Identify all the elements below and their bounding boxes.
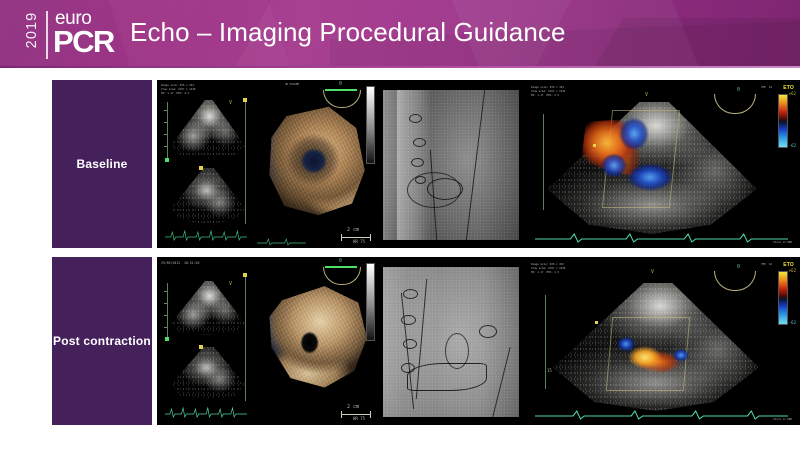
logo-year: 2019 bbox=[24, 8, 40, 52]
view-marker-label: V bbox=[229, 283, 232, 286]
fluoroscopy-image bbox=[383, 90, 519, 240]
page-title: Echo – Imaging Procedural Guidance bbox=[130, 17, 566, 48]
scale-bar-cap bbox=[370, 411, 371, 418]
orientation-marker bbox=[595, 321, 598, 324]
ecg-trace bbox=[535, 230, 788, 244]
echo-speckle bbox=[171, 347, 245, 399]
heart-rate-label: HR 75 bbox=[353, 240, 365, 243]
view-marker-label: V bbox=[645, 94, 648, 97]
orientation-marker bbox=[243, 98, 247, 102]
doppler-jet-blue bbox=[627, 164, 673, 194]
axis-tick bbox=[164, 327, 167, 328]
panel-3d-volume-render[interactable]: 3D VOLUME 0 2 cm HR 75 bbox=[255, 80, 377, 248]
slide-header: 2019 euro PCR Echo – Imaging Procedural … bbox=[0, 0, 800, 68]
fluoroscopy-image bbox=[383, 267, 519, 417]
depth-label: 15 bbox=[547, 369, 552, 372]
volume-render-image bbox=[263, 102, 369, 220]
echo-speckle bbox=[171, 281, 245, 335]
depth-axis bbox=[545, 295, 546, 389]
orientation-marker bbox=[199, 345, 203, 349]
axis-tick bbox=[164, 122, 167, 123]
panel-color-doppler-echo[interactable]: Image size: 636 x 434 View area: 2197 x … bbox=[525, 80, 800, 248]
europcr-logo: 2019 euro PCR bbox=[14, 6, 122, 62]
axis-tick bbox=[164, 110, 167, 111]
logo-divider bbox=[46, 11, 48, 59]
panel-fluoroscopy[interactable] bbox=[377, 257, 525, 425]
orientation-marker bbox=[593, 144, 596, 147]
axis-tick bbox=[164, 146, 167, 147]
slide: 2019 euro PCR Echo – Imaging Procedural … bbox=[0, 0, 800, 450]
echo-speckle bbox=[171, 100, 245, 158]
volume-texture bbox=[263, 102, 369, 220]
view-marker-label: V bbox=[651, 271, 654, 274]
row-label-baseline: Baseline bbox=[52, 80, 152, 248]
panel-biplane-2d-echo[interactable]: Image size: 636 x 434 View area: 2197 x … bbox=[157, 80, 255, 248]
axis-tick bbox=[164, 291, 167, 292]
scale-bar-cap bbox=[341, 411, 342, 418]
scale-bar-label: 2 cm bbox=[347, 229, 359, 232]
orientation-angle-label: 0 bbox=[339, 83, 342, 86]
echo-overlay-text: Image size: 636 x 434 bbox=[161, 84, 194, 87]
echo-sector-lower bbox=[171, 168, 245, 224]
scale-bar-label: 2 cm bbox=[347, 406, 359, 409]
axis-tick bbox=[164, 303, 167, 304]
header-underline bbox=[0, 66, 800, 68]
axis-tick bbox=[164, 134, 167, 135]
depth-axis bbox=[543, 114, 544, 210]
scale-bar-cap bbox=[341, 234, 342, 241]
doppler-canvas: V bbox=[535, 88, 790, 240]
doppler-jet-blue bbox=[673, 349, 689, 363]
orientation-marker bbox=[165, 337, 169, 341]
doppler-jet-blue bbox=[601, 154, 627, 180]
doppler-canvas: V 15 bbox=[535, 265, 790, 417]
ecg-trace bbox=[165, 403, 247, 419]
side-axis bbox=[245, 100, 246, 224]
scale-bar-line bbox=[341, 414, 371, 415]
panel-group-baseline: Image size: 636 x 434 View area: 2197 x … bbox=[157, 80, 800, 248]
fluoroscopy-noise bbox=[383, 267, 519, 417]
echo-overlay-text: MI: 1.17 MHz: 2.5 bbox=[161, 92, 189, 95]
side-axis bbox=[245, 275, 246, 401]
doppler-jet-blue bbox=[617, 337, 635, 353]
heart-rate-label: HR 75 bbox=[353, 417, 365, 420]
ecg-trace bbox=[535, 407, 788, 421]
logo-pcr-text: PCR bbox=[53, 26, 114, 57]
orientation-marker bbox=[165, 158, 169, 162]
panel-group-post-contraction: 29/05/2012 16:51:56 V bbox=[157, 257, 800, 425]
echo-overlay-text: Store in HDD bbox=[773, 241, 792, 244]
fluoroscopy-noise bbox=[383, 90, 519, 240]
depth-axis bbox=[167, 102, 168, 160]
echo-timestamp: 29/05/2012 16:51:56 bbox=[161, 262, 199, 265]
orientation-angle-label: 0 bbox=[339, 260, 342, 263]
echo-overlay-text: 3D VOLUME bbox=[285, 83, 299, 86]
echo-speckle bbox=[171, 168, 245, 224]
panel-3d-volume-render[interactable]: 0 2 cm HR 75 bbox=[255, 257, 377, 425]
echo-sector-upper bbox=[171, 100, 245, 158]
panel-fluoroscopy[interactable] bbox=[377, 80, 525, 248]
volume-render-canvas bbox=[263, 102, 369, 220]
ecg-trace bbox=[165, 226, 247, 242]
volume-texture bbox=[263, 279, 369, 397]
echo-sector-upper bbox=[171, 281, 245, 335]
panel-color-doppler-echo[interactable]: Image size: 636 x 434 View area: 2197 x … bbox=[525, 257, 800, 425]
panel-biplane-2d-echo[interactable]: 29/05/2012 16:51:56 V bbox=[157, 257, 255, 425]
header-facet bbox=[577, 18, 800, 68]
orientation-marker bbox=[243, 273, 247, 277]
echo-overlay-text: Store in HDD bbox=[773, 418, 792, 421]
orientation-marker bbox=[199, 166, 203, 170]
echo-sector-lower bbox=[171, 347, 245, 399]
axis-tick bbox=[164, 315, 167, 316]
volume-render-canvas bbox=[263, 279, 369, 397]
view-marker-label: V bbox=[229, 102, 232, 105]
echo-overlay-text: View area: 2197 x 1430 bbox=[161, 88, 195, 91]
doppler-jet-blue bbox=[619, 118, 649, 154]
volume-render-image bbox=[263, 279, 369, 397]
row-label-post-contraction: Post contraction bbox=[52, 257, 152, 425]
scale-bar-cap bbox=[370, 234, 371, 241]
scale-bar-line bbox=[341, 237, 371, 238]
ecg-trace bbox=[257, 236, 306, 246]
depth-axis bbox=[167, 283, 168, 339]
